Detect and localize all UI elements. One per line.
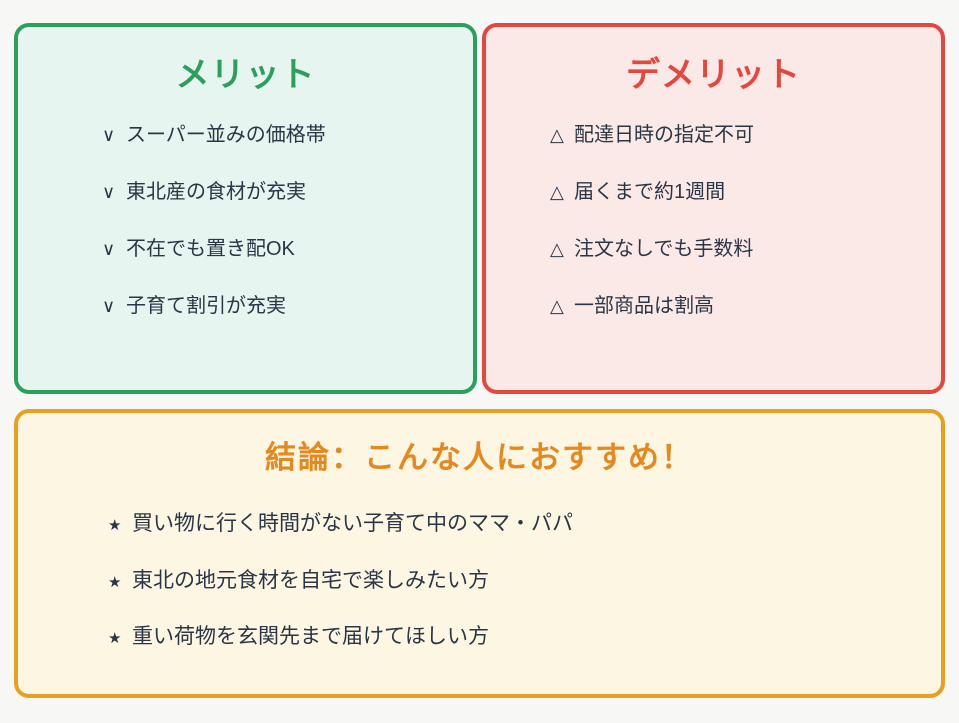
conclusion-list: ★ 買い物に行く時間がない子育て中のママ・パパ ★ 東北の地元食材を自宅で楽しみ…: [40, 510, 919, 651]
warning-triangle-icon: △: [550, 294, 574, 318]
list-item-label: 一部商品は割高: [574, 293, 919, 320]
list-item: △ 届くまで約1週間: [550, 179, 919, 206]
list-item-label: 注文なしでも手数料: [574, 236, 919, 263]
list-item-label: 東北産の食材が充実: [126, 179, 451, 206]
conclusion-card: 結論：こんな人におすすめ！ ★ 買い物に行く時間がない子育て中のママ・パパ ★ …: [14, 409, 945, 698]
list-item-label: 配達日時の指定不可: [574, 122, 919, 149]
list-item: △ 一部商品は割高: [550, 293, 919, 320]
demerit-card: デメリット △ 配達日時の指定不可 △ 届くまで約1週間 △ 注文なしでも手数料…: [482, 23, 945, 394]
comparison-board: メリット ∨ スーパー並みの価格帯 ∨ 東北産の食材が充実 ∨ 不在でも置き配O…: [0, 0, 959, 723]
star-icon: ★: [108, 516, 132, 536]
merit-card: メリット ∨ スーパー並みの価格帯 ∨ 東北産の食材が充実 ∨ 不在でも置き配O…: [14, 23, 477, 394]
star-icon: ★: [108, 629, 132, 649]
check-chevron-icon: ∨: [102, 180, 126, 204]
list-item: △ 配達日時の指定不可: [550, 122, 919, 149]
merit-card-title: メリット: [40, 55, 451, 96]
list-item-label: 重い荷物を玄関先まで届けてほしい方: [132, 623, 919, 651]
warning-triangle-icon: △: [550, 180, 574, 204]
list-item-label: 不在でも置き配OK: [126, 236, 451, 263]
warning-triangle-icon: △: [550, 237, 574, 261]
list-item: ∨ スーパー並みの価格帯: [102, 122, 451, 149]
list-item: ∨ 東北産の食材が充実: [102, 179, 451, 206]
list-item-label: 東北の地元食材を自宅で楽しみたい方: [132, 567, 919, 595]
warning-triangle-icon: △: [550, 123, 574, 147]
list-item: ∨ 子育て割引が充実: [102, 293, 451, 320]
check-chevron-icon: ∨: [102, 294, 126, 318]
star-icon: ★: [108, 573, 132, 593]
conclusion-card-title: 結論：こんな人におすすめ！: [40, 439, 919, 476]
list-item-label: 子育て割引が充実: [126, 293, 451, 320]
list-item: ∨ 不在でも置き配OK: [102, 236, 451, 263]
merit-list: ∨ スーパー並みの価格帯 ∨ 東北産の食材が充実 ∨ 不在でも置き配OK ∨ 子…: [40, 122, 451, 320]
list-item: △ 注文なしでも手数料: [550, 236, 919, 263]
top-card-row: メリット ∨ スーパー並みの価格帯 ∨ 東北産の食材が充実 ∨ 不在でも置き配O…: [14, 23, 945, 394]
list-item: ★ 東北の地元食材を自宅で楽しみたい方: [108, 567, 919, 595]
list-item-label: 買い物に行く時間がない子育て中のママ・パパ: [132, 510, 919, 538]
list-item-label: 届くまで約1週間: [574, 179, 919, 206]
list-item: ★ 重い荷物を玄関先まで届けてほしい方: [108, 623, 919, 651]
check-chevron-icon: ∨: [102, 237, 126, 261]
demerit-list: △ 配達日時の指定不可 △ 届くまで約1週間 △ 注文なしでも手数料 △ 一部商…: [508, 122, 919, 320]
check-chevron-icon: ∨: [102, 123, 126, 147]
list-item-label: スーパー並みの価格帯: [126, 122, 451, 149]
list-item: ★ 買い物に行く時間がない子育て中のママ・パパ: [108, 510, 919, 538]
demerit-card-title: デメリット: [508, 55, 919, 96]
